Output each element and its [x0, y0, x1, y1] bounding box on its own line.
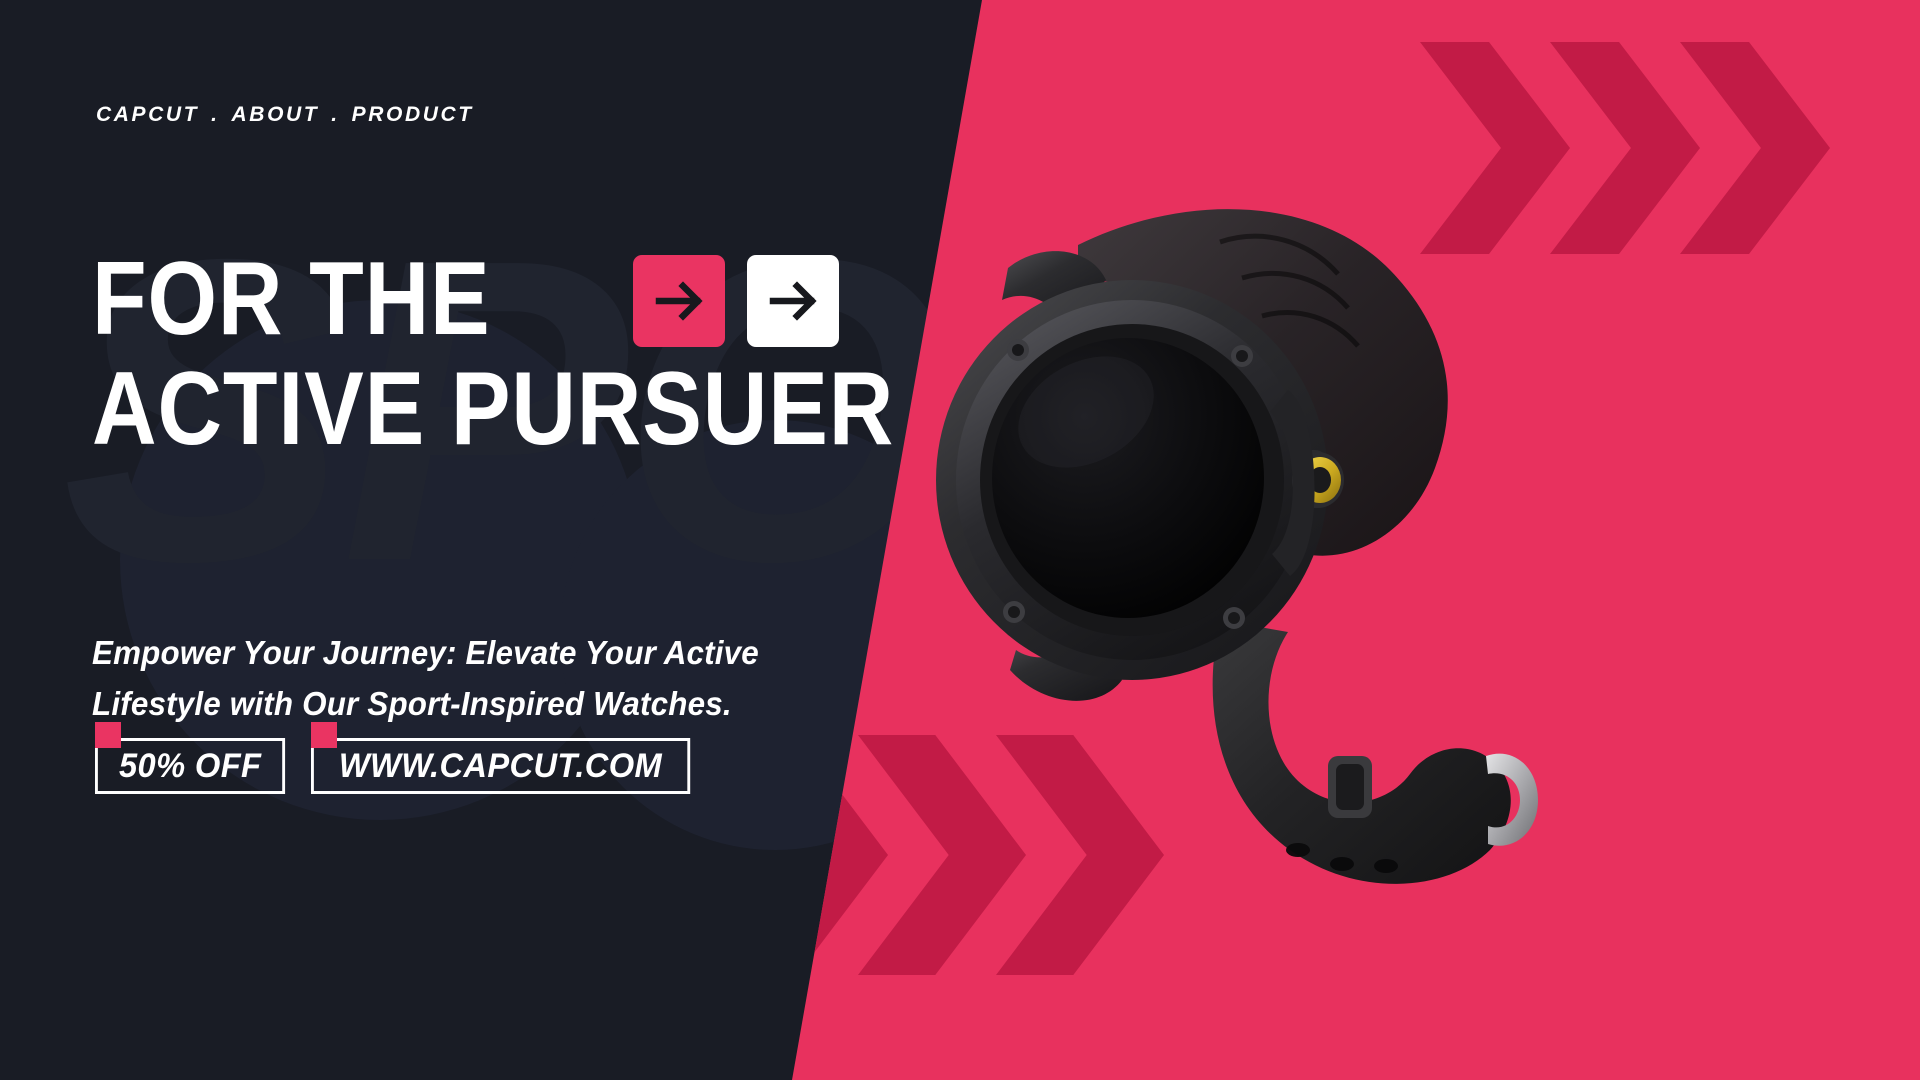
arrow-right-icon [767, 275, 819, 327]
product-image-smartwatch [890, 150, 1590, 910]
nav-separator: . [331, 103, 339, 127]
body-paragraph: Empower Your Journey: Elevate Your Activ… [92, 627, 795, 729]
cta-row: 50% OFF WWW.CAPCUT.COM [95, 722, 706, 794]
discount-badge-wrapper: 50% OFF [95, 722, 293, 794]
arrow-button-primary[interactable] [633, 255, 725, 347]
chevron-icon [1680, 42, 1830, 254]
arrow-right-icon [653, 275, 705, 327]
top-navigation: CAPCUT . ABOUT . PRODUCT [96, 103, 474, 127]
nav-separator: . [211, 103, 219, 127]
arrow-button-group [633, 255, 839, 347]
accent-square-icon [311, 722, 337, 748]
headline-line2: ACTIVE PURSUER [92, 362, 797, 458]
arrow-button-secondary[interactable] [747, 255, 839, 347]
nav-item-about[interactable]: ABOUT [232, 103, 320, 127]
banner-canvas: SPO [0, 0, 1920, 1080]
website-badge-wrapper: WWW.CAPCUT.COM [311, 722, 706, 794]
headline-block: FOR THE ACTIVE [92, 252, 912, 457]
chevron-icon [760, 735, 888, 975]
headline-line1-row: FOR THE [92, 252, 912, 348]
accent-square-icon [95, 722, 121, 748]
discount-badge[interactable]: 50% OFF [95, 738, 285, 794]
nav-item-product[interactable]: PRODUCT [352, 103, 474, 127]
headline-line1: FOR THE [92, 252, 491, 348]
nav-item-capcut[interactable]: CAPCUT [96, 103, 199, 127]
website-badge[interactable]: WWW.CAPCUT.COM [311, 738, 690, 794]
